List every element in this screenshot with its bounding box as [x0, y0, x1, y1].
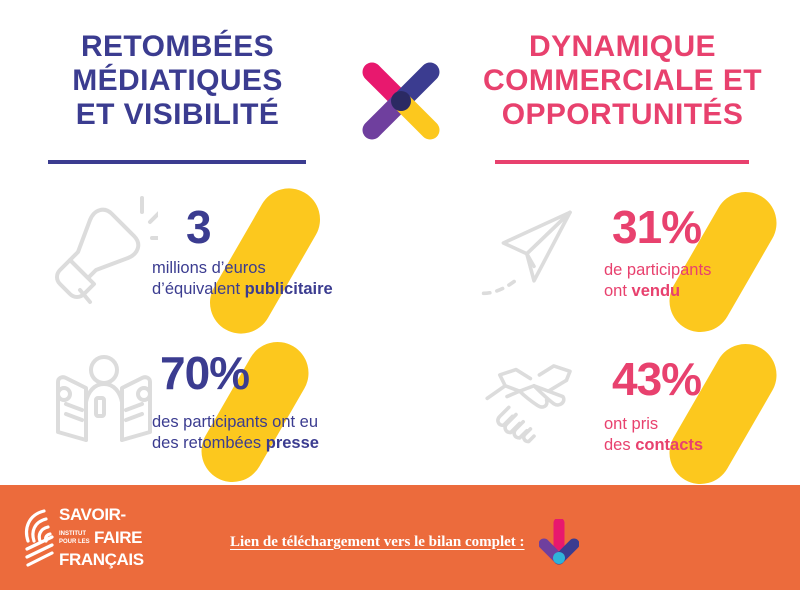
svg-text:INSTITUT: INSTITUT [59, 531, 86, 537]
stat-number: 31% [612, 204, 800, 250]
stat-block-media-value: 3 millions d’euros d’équivalent publicit… [42, 188, 402, 323]
caption-plain-1: de participants [604, 261, 711, 279]
stat-caption: millions d’euros d’équivalent publicitai… [152, 258, 402, 299]
stat-text: 43% ont pris des contacts [582, 356, 800, 455]
stat-body: 43% ont pris des contacts [582, 338, 800, 473]
left-column-title: RETOMBÉES MÉDIATIQUES ET VISIBILITÉ [30, 30, 325, 133]
stat-number: 70% [160, 350, 402, 396]
stat-caption: des participants ont eu des retombées pr… [152, 412, 402, 453]
right-title-line-1: DYNAMIQUE [465, 30, 780, 64]
left-title-line-3: ET VISIBILITÉ [30, 98, 325, 132]
caption-plain-2: des [604, 436, 635, 454]
logo-line-savoir: SAVOIR- [59, 505, 126, 524]
stat-caption-line-1: ont pris [604, 414, 800, 435]
newspaper-reader-icon [50, 344, 158, 459]
caption-plain-2: des retombées [152, 434, 266, 452]
right-title-line-3: OPPORTUNITÉS [465, 98, 780, 132]
stat-caption-line-2: ont vendu [604, 281, 800, 302]
left-title-divider [48, 160, 306, 164]
stat-caption-line-1: des participants ont eu [152, 412, 402, 433]
download-arrow-icon[interactable] [539, 519, 579, 565]
logo-line-faire: FAIRE [94, 528, 142, 547]
stat-caption-line-1: de participants [604, 260, 800, 281]
caption-bold-2: presse [266, 434, 319, 452]
header-section: RETOMBÉES MÉDIATIQUES ET VISIBILITÉ DYNA… [0, 0, 800, 175]
stat-block-participants-sold: 31% de participants ont vendu [472, 188, 800, 323]
stat-caption-line-2: des retombées presse [152, 433, 402, 454]
footer-bar: SAVOIR- INSTITUT POUR LES FAIRE FRANÇAIS… [0, 485, 800, 590]
stat-block-press-coverage: 70% des participants ont eu des retombée… [42, 338, 402, 473]
x-cross-icon [358, 58, 444, 144]
caption-plain-1: millions d’euros [152, 259, 266, 277]
caption-bold-2: contacts [635, 436, 703, 454]
right-column-title: DYNAMIQUE COMMERCIALE ET OPPORTUNITÉS [465, 30, 780, 133]
stat-number: 43% [612, 356, 800, 402]
stat-caption: de participants ont vendu [604, 260, 800, 301]
svg-text:POUR LES: POUR LES [59, 539, 90, 545]
infographic-page: RETOMBÉES MÉDIATIQUES ET VISIBILITÉ DYNA… [0, 0, 800, 590]
caption-plain-1: des participants ont eu [152, 413, 318, 431]
savoir-faire-francais-logo[interactable]: SAVOIR- INSTITUT POUR LES FAIRE FRANÇAIS [22, 503, 147, 571]
right-title-line-2: COMMERCIALE ET [465, 64, 780, 98]
right-title-divider [495, 160, 749, 164]
stat-caption: ont pris des contacts [604, 414, 800, 455]
download-row: Lien de téléchargement vers le bilan com… [230, 517, 630, 567]
paper-plane-icon [480, 194, 588, 309]
stat-caption-line-2: d’équivalent publicitaire [152, 279, 402, 300]
download-link[interactable]: Lien de téléchargement vers le bilan com… [230, 534, 525, 551]
left-title-line-1: RETOMBÉES [30, 30, 325, 64]
stat-body: 70% des participants ont eu des retombée… [152, 338, 402, 473]
left-title-line-2: MÉDIATIQUES [30, 64, 325, 98]
stat-body: 3 millions d’euros d’équivalent publicit… [152, 188, 402, 323]
stat-block-contacts-made: 43% ont pris des contacts [472, 338, 800, 473]
stat-caption-line-2: des contacts [604, 435, 800, 456]
caption-bold-2: publicitaire [245, 280, 333, 298]
stat-number: 3 [186, 204, 402, 250]
stat-text: 31% de participants ont vendu [582, 204, 800, 301]
spiral-fingerprint-icon [27, 511, 52, 565]
megaphone-icon [50, 194, 158, 309]
caption-plain-1: ont pris [604, 415, 658, 433]
stat-caption-line-1: millions d’euros [152, 258, 402, 279]
caption-plain-2: d’équivalent [152, 280, 245, 298]
caption-plain-2: ont [604, 282, 632, 300]
logo-line-francais: FRANÇAIS [59, 550, 144, 569]
handshake-icon [480, 344, 588, 459]
stat-text: 3 millions d’euros d’équivalent publicit… [152, 204, 402, 299]
caption-bold-2: vendu [632, 282, 681, 300]
stat-text: 70% des participants ont eu des retombée… [152, 350, 402, 453]
stat-body: 31% de participants ont vendu [582, 188, 800, 323]
